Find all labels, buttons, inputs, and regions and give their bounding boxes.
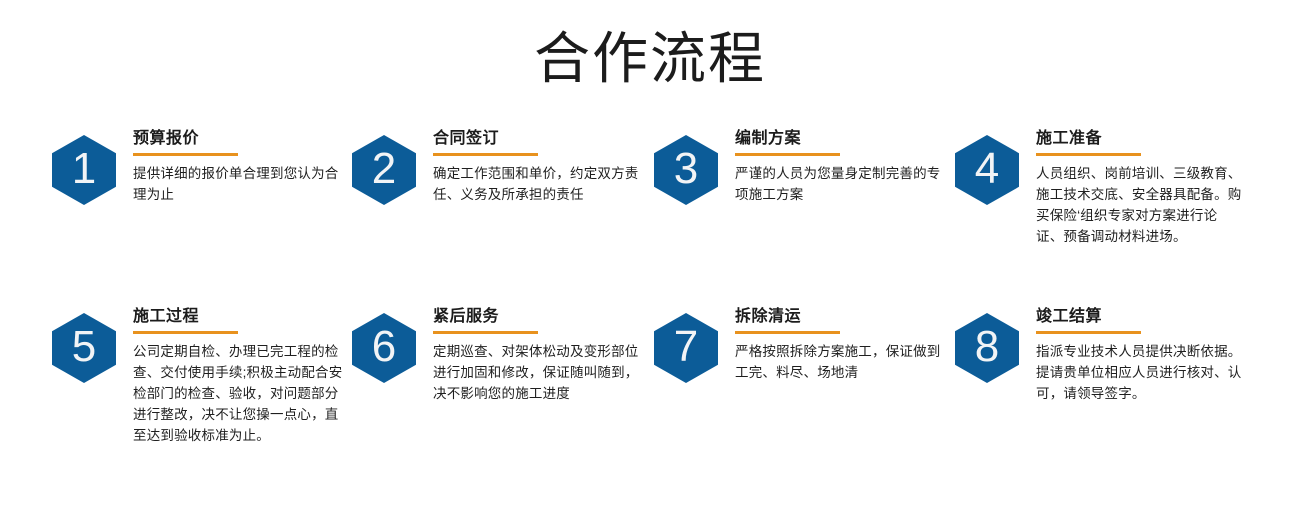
hexagon-badge-1: 1 [52,135,116,205]
step-description: 严谨的人员为您量身定制完善的专项施工方案 [735,163,947,205]
hexagon-badge-2: 2 [352,135,416,205]
step-number: 4 [975,147,999,193]
step-heading: 拆除清运 [735,306,947,327]
step-heading: 编制方案 [735,128,947,149]
step-number: 8 [975,325,999,371]
step-text-block: 预算报价 提供详细的报价单合理到您认为合理为止 [133,128,345,205]
step-text-block: 施工准备 人员组织、岗前培训、三级教育、施工技术交底、安全器具配备。购买保险‘组… [1036,128,1248,247]
step-heading: 施工准备 [1036,128,1248,149]
heading-underline [433,153,538,156]
step-number: 5 [72,325,96,371]
page-title: 合作流程 [0,26,1300,92]
step-description: 指派专业技术人员提供决断依据。提请贵单位相应人员进行核对、认可，请领导签字。 [1036,341,1244,404]
step-text-block: 施工过程 公司定期自检、办理已完工程的检查、交付使用手续;积极主动配合安检部门的… [133,306,345,446]
step-heading: 紧后服务 [433,306,645,327]
step-description: 提供详细的报价单合理到您认为合理为止 [133,163,345,205]
heading-underline [1036,153,1141,156]
hexagon-badge-8: 8 [955,313,1019,383]
step-number: 3 [674,147,698,193]
step-item: 5 施工过程 公司定期自检、办理已完工程的检查、交付使用手续;积极主动配合安检部… [46,306,346,476]
step-number: 2 [372,147,396,193]
step-heading: 施工过程 [133,306,345,327]
step-description: 人员组织、岗前培训、三级教育、施工技术交底、安全器具配备。购买保险‘组织专家对方… [1036,163,1244,247]
infographic-page: 合作流程 1 预算报价 提供详细的报价单合理到您认为合理为止 2 [0,0,1300,532]
step-number: 1 [72,147,96,193]
step-number: 6 [372,325,396,371]
step-text-block: 编制方案 严谨的人员为您量身定制完善的专项施工方案 [735,128,947,205]
step-description: 公司定期自检、办理已完工程的检查、交付使用手续;积极主动配合安检部门的检查、验收… [133,341,345,446]
step-item: 3 编制方案 严谨的人员为您量身定制完善的专项施工方案 [648,128,948,298]
step-item: 7 拆除清运 严格按照拆除方案施工，保证做到工完、料尽、场地清 [648,306,948,476]
step-description: 确定工作范围和单价，约定双方责任、义务及所承担的责任 [433,163,645,205]
step-item: 1 预算报价 提供详细的报价单合理到您认为合理为止 [46,128,346,298]
step-text-block: 竣工结算 指派专业技术人员提供决断依据。提请贵单位相应人员进行核对、认可，请领导… [1036,306,1248,404]
hexagon-badge-3: 3 [654,135,718,205]
hexagon-badge-5: 5 [52,313,116,383]
heading-underline [735,153,840,156]
hexagon-badge-7: 7 [654,313,718,383]
heading-underline [133,331,238,334]
step-item: 2 合同签订 确定工作范围和单价，约定双方责任、义务及所承担的责任 [346,128,646,298]
step-number: 7 [674,325,698,371]
step-heading: 合同签订 [433,128,645,149]
step-description: 定期巡查、对架体松动及变形部位进行加固和修改，保证随叫随到，决不影响您的施工进度 [433,341,645,404]
hexagon-badge-6: 6 [352,313,416,383]
step-heading: 竣工结算 [1036,306,1248,327]
heading-underline [735,331,840,334]
step-text-block: 拆除清运 严格按照拆除方案施工，保证做到工完、料尽、场地清 [735,306,947,383]
heading-underline [133,153,238,156]
step-heading: 预算报价 [133,128,345,149]
step-item: 6 紧后服务 定期巡查、对架体松动及变形部位进行加固和修改，保证随叫随到，决不影… [346,306,646,476]
heading-underline [433,331,538,334]
step-text-block: 紧后服务 定期巡查、对架体松动及变形部位进行加固和修改，保证随叫随到，决不影响您… [433,306,645,404]
heading-underline [1036,331,1141,334]
step-text-block: 合同签订 确定工作范围和单价，约定双方责任、义务及所承担的责任 [433,128,645,205]
step-item: 4 施工准备 人员组织、岗前培训、三级教育、施工技术交底、安全器具配备。购买保险… [949,128,1249,298]
step-description: 严格按照拆除方案施工，保证做到工完、料尽、场地清 [735,341,947,383]
hexagon-badge-4: 4 [955,135,1019,205]
step-item: 8 竣工结算 指派专业技术人员提供决断依据。提请贵单位相应人员进行核对、认可，请… [949,306,1249,476]
